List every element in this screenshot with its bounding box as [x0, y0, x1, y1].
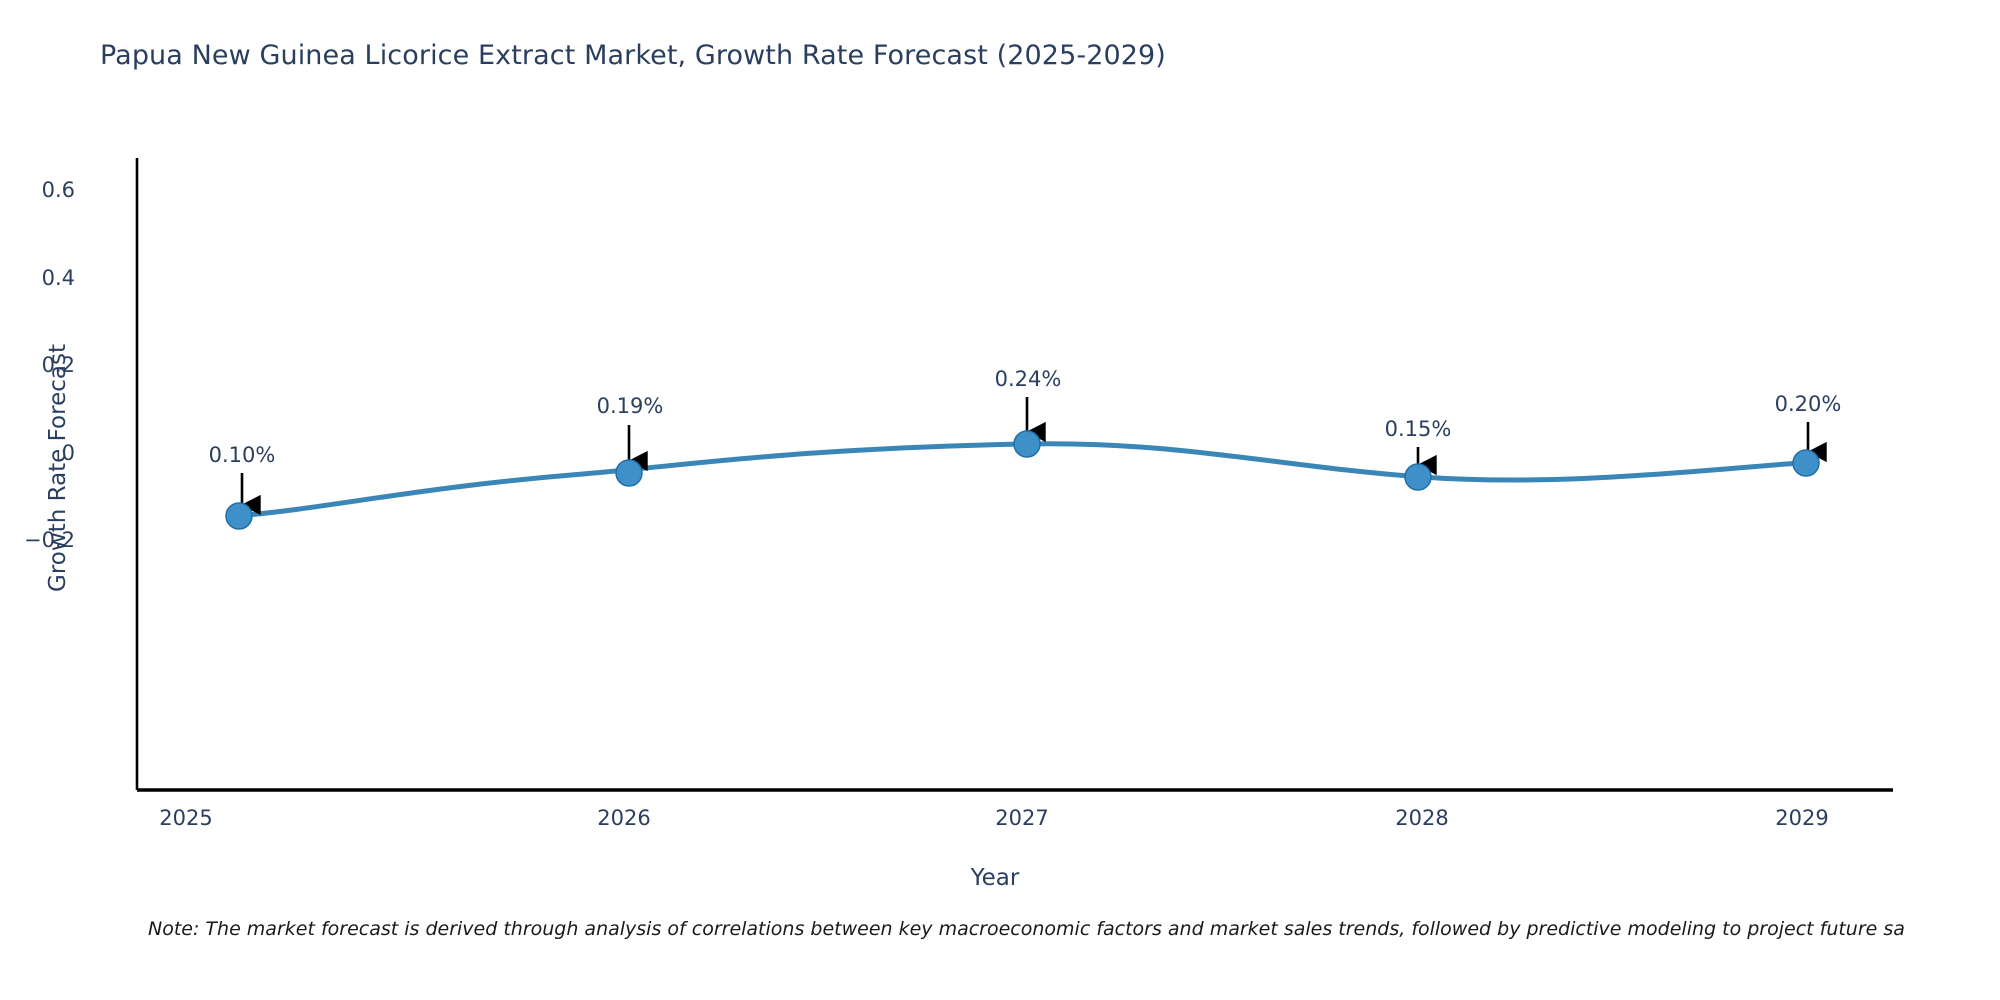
data-point-2026[interactable]: [616, 460, 642, 486]
data-point-2027[interactable]: [1014, 431, 1040, 457]
data-point-2029[interactable]: [1793, 450, 1819, 476]
data-point-2025[interactable]: [226, 503, 252, 529]
chart-container: Papua New Guinea Licorice Extract Market…: [0, 0, 2000, 1000]
data-point-2028[interactable]: [1405, 464, 1431, 490]
footnote-text: Note: The market forecast is derived thr…: [148, 918, 1905, 940]
plot-area: [0, 0, 2000, 1000]
